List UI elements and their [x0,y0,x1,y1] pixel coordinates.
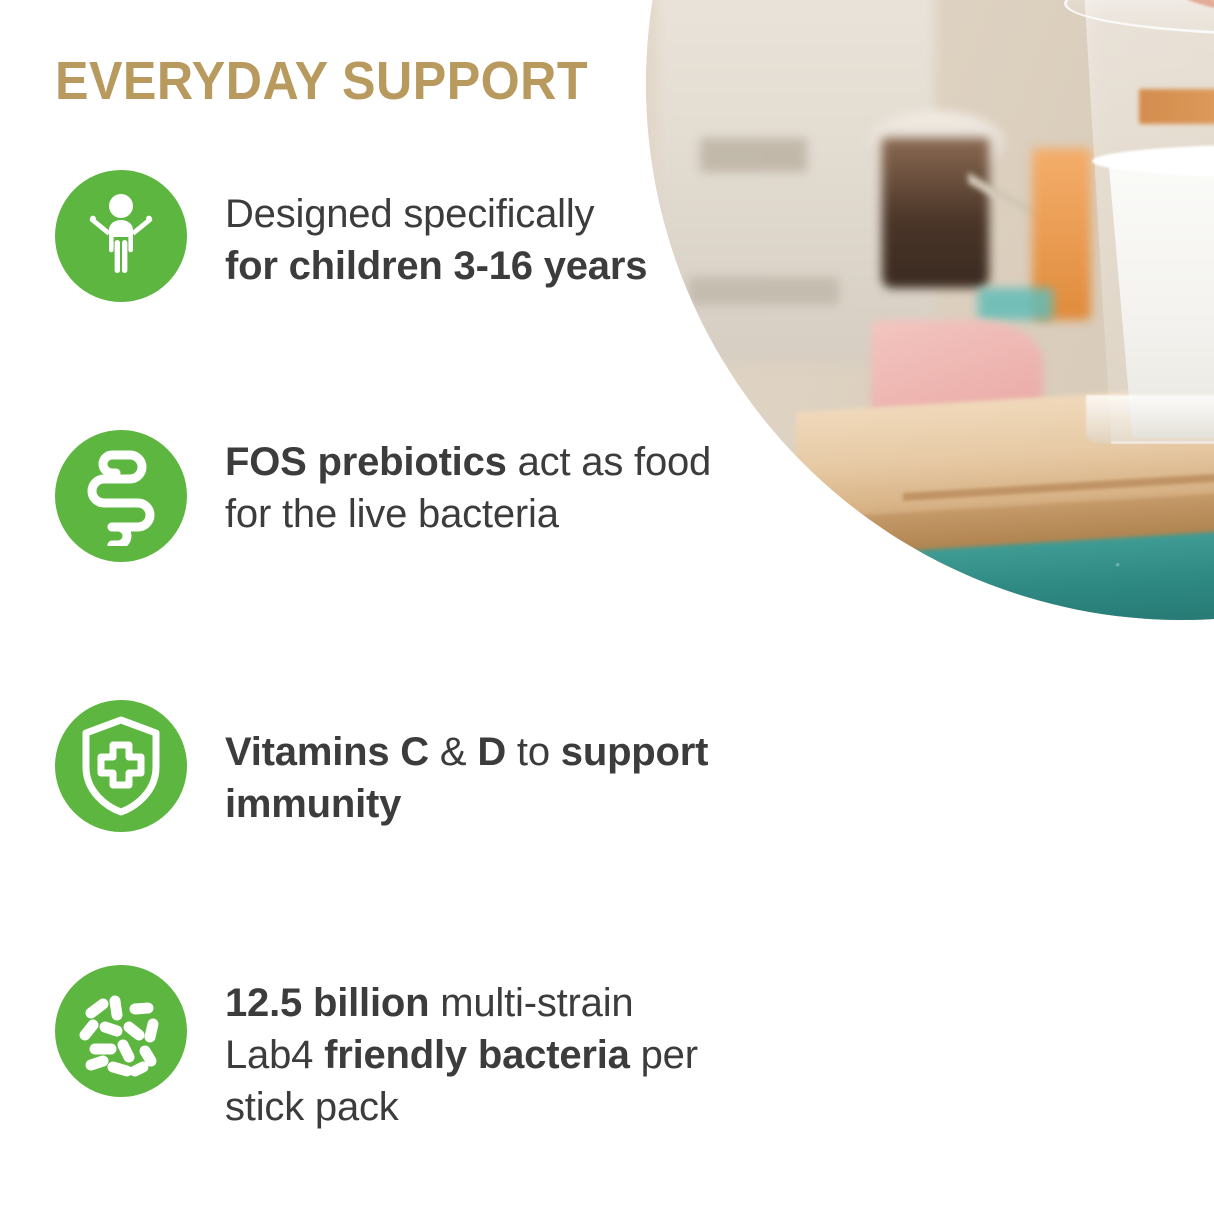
feature-text-vitamins: Vitamins C & D to support immunity [225,700,725,830]
photo-hand [1118,0,1214,105]
feature-item-bacteria: 12.5 billion multi-strain Lab4 friendly … [55,965,725,1133]
promo-graphic: EVERYDAY SUPPORT Designed specifically f… [0,0,1214,1214]
feature-4-bold-1: 12.5 billion [225,981,429,1025]
feature-3-bold-1: Vitamins C [225,730,429,774]
feature-text-children: Designed specifically for children 3-16 … [225,170,647,292]
photo-finger-1 [1143,0,1214,22]
shield-plus-icon [55,700,187,832]
feature-text-bacteria: 12.5 billion multi-strain Lab4 friendly … [225,965,725,1133]
photo-glass-base [1086,395,1214,443]
feature-3-bold-2: D [477,730,506,774]
bacteria-icon [55,965,187,1097]
feature-item-vitamins: Vitamins C & D to support immunity [55,700,725,832]
intestine-icon [55,430,187,562]
feature-item-children: Designed specifically for children 3-16 … [55,170,647,302]
feature-2-bold: FOS prebiotics [225,440,507,484]
feature-1-line-1: Designed specifically [225,192,594,236]
child-figure-icon [55,170,187,302]
feature-3-regular-1: & [429,730,477,774]
photo-background-teal-item [978,288,1053,320]
page-title: EVERYDAY SUPPORT [55,50,588,112]
feature-text-prebiotics: FOS prebiotics act as food for the live … [225,430,725,540]
feature-4-bold-2: friendly bacteria [324,1033,630,1077]
feature-3-regular-2: to [506,730,561,774]
feature-1-line-2: for children 3-16 years [225,244,647,288]
feature-item-prebiotics: FOS prebiotics act as food for the live … [55,430,725,562]
feature-list-panel: EVERYDAY SUPPORT Designed specifically f… [0,0,760,1214]
